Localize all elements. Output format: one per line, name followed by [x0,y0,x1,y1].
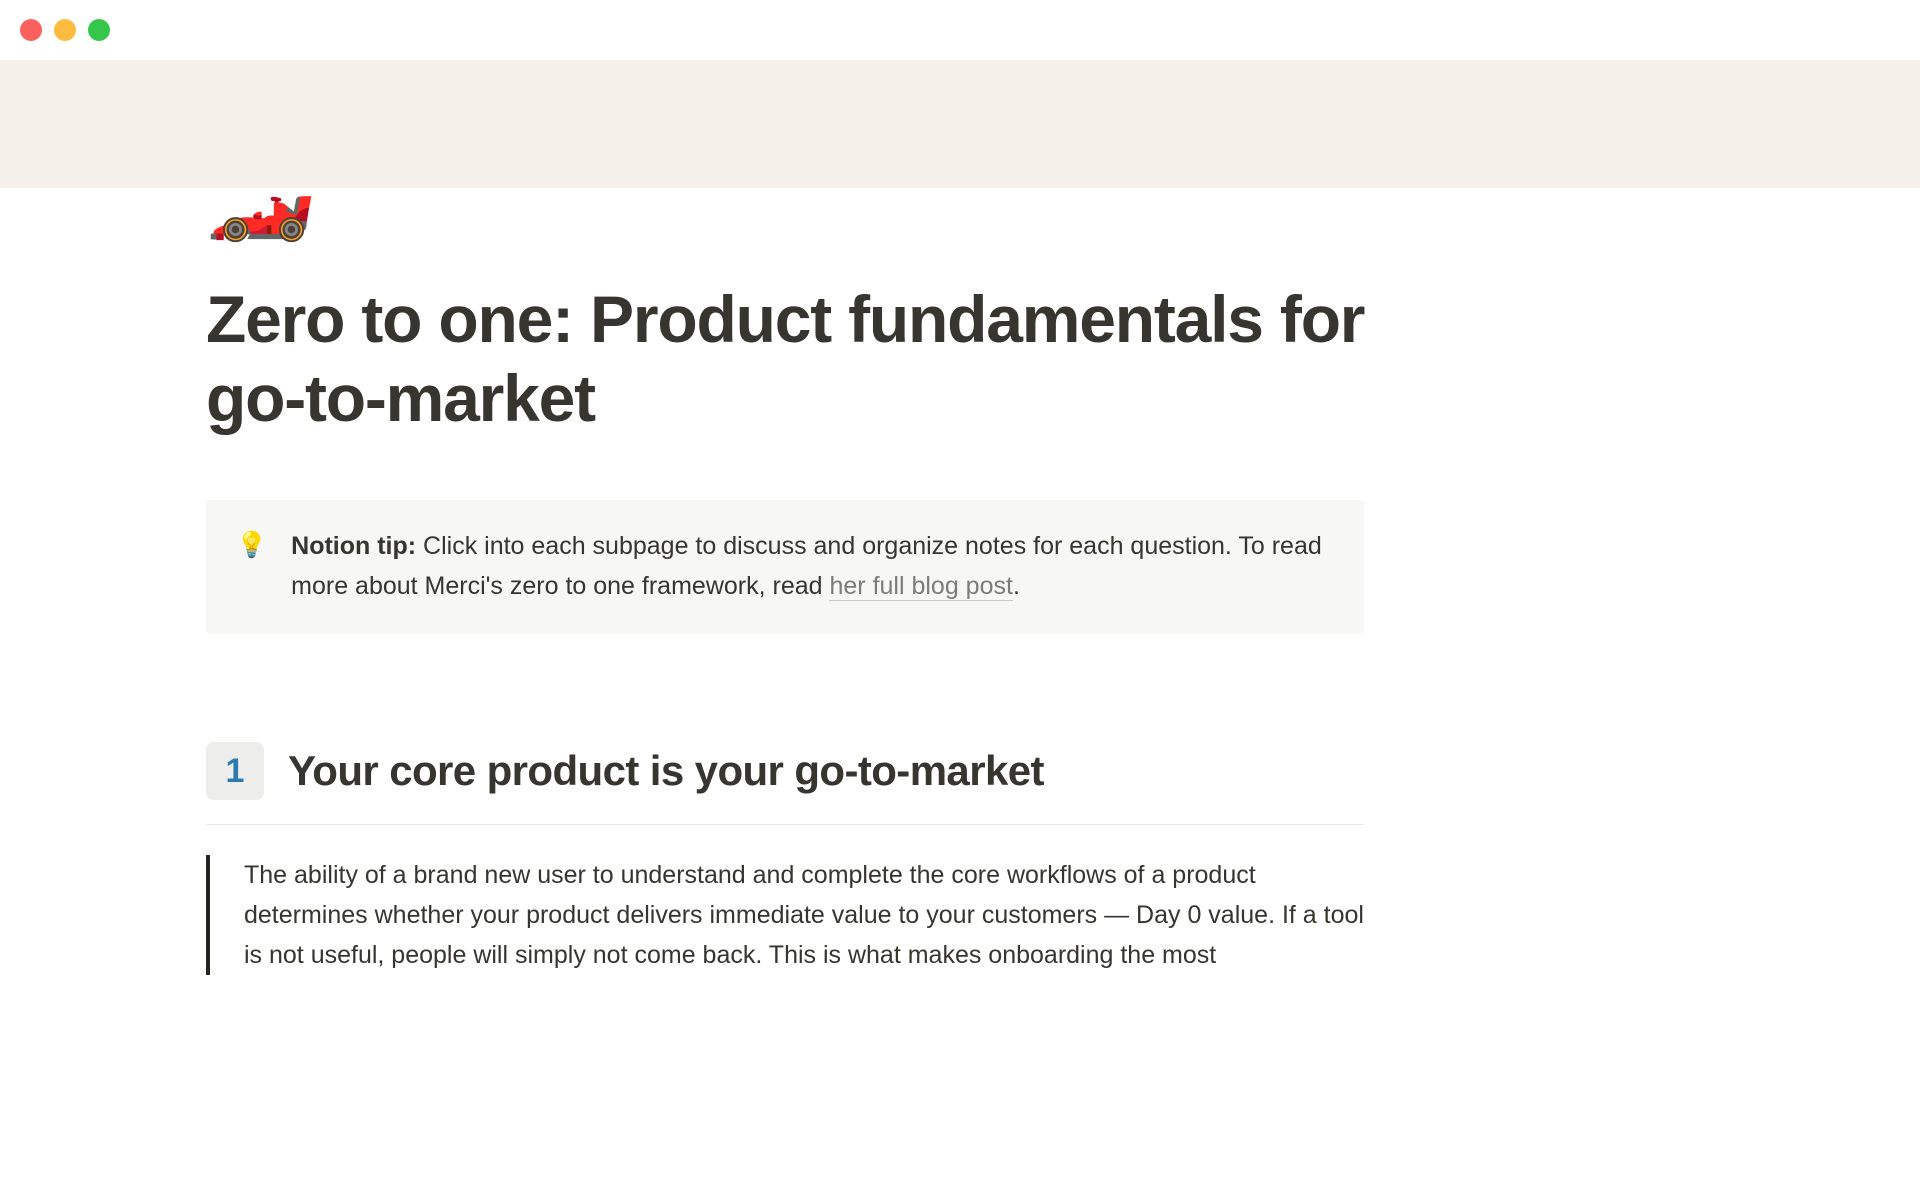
blog-post-link[interactable]: her full blog post [829,572,1012,601]
window-title-bar [0,0,1920,60]
quote-block[interactable]: The ability of a brand new user to under… [206,855,1368,975]
callout-text: Notion tip: Click into each subpage to d… [291,526,1334,606]
maximize-window-button[interactable] [88,19,110,41]
lightbulb-icon: 💡 [236,526,267,564]
close-window-button[interactable] [20,19,42,41]
minimize-window-button[interactable] [54,19,76,41]
section-number-badge: 1 [206,742,264,800]
page-content: 🏎️ Zero to one: Product fundamentals for… [0,150,1920,975]
callout-label: Notion tip: [291,532,416,560]
quote-text: The ability of a brand new user to under… [244,855,1368,975]
section-heading-1[interactable]: 1 Your core product is your go-to-market [206,742,1714,800]
notion-tip-callout[interactable]: 💡 Notion tip: Click into each subpage to… [206,500,1364,634]
section-divider [206,824,1364,825]
racing-car-icon[interactable]: 🏎️ [206,150,1714,246]
callout-body-before-link: Click into each subpage to discuss and o… [291,532,1322,600]
section-title[interactable]: Your core product is your go-to-market [288,747,1044,795]
callout-body-after-link: . [1013,572,1020,600]
traffic-light-controls [20,19,110,41]
page-title[interactable]: Zero to one: Product fundamentals for go… [206,280,1376,438]
